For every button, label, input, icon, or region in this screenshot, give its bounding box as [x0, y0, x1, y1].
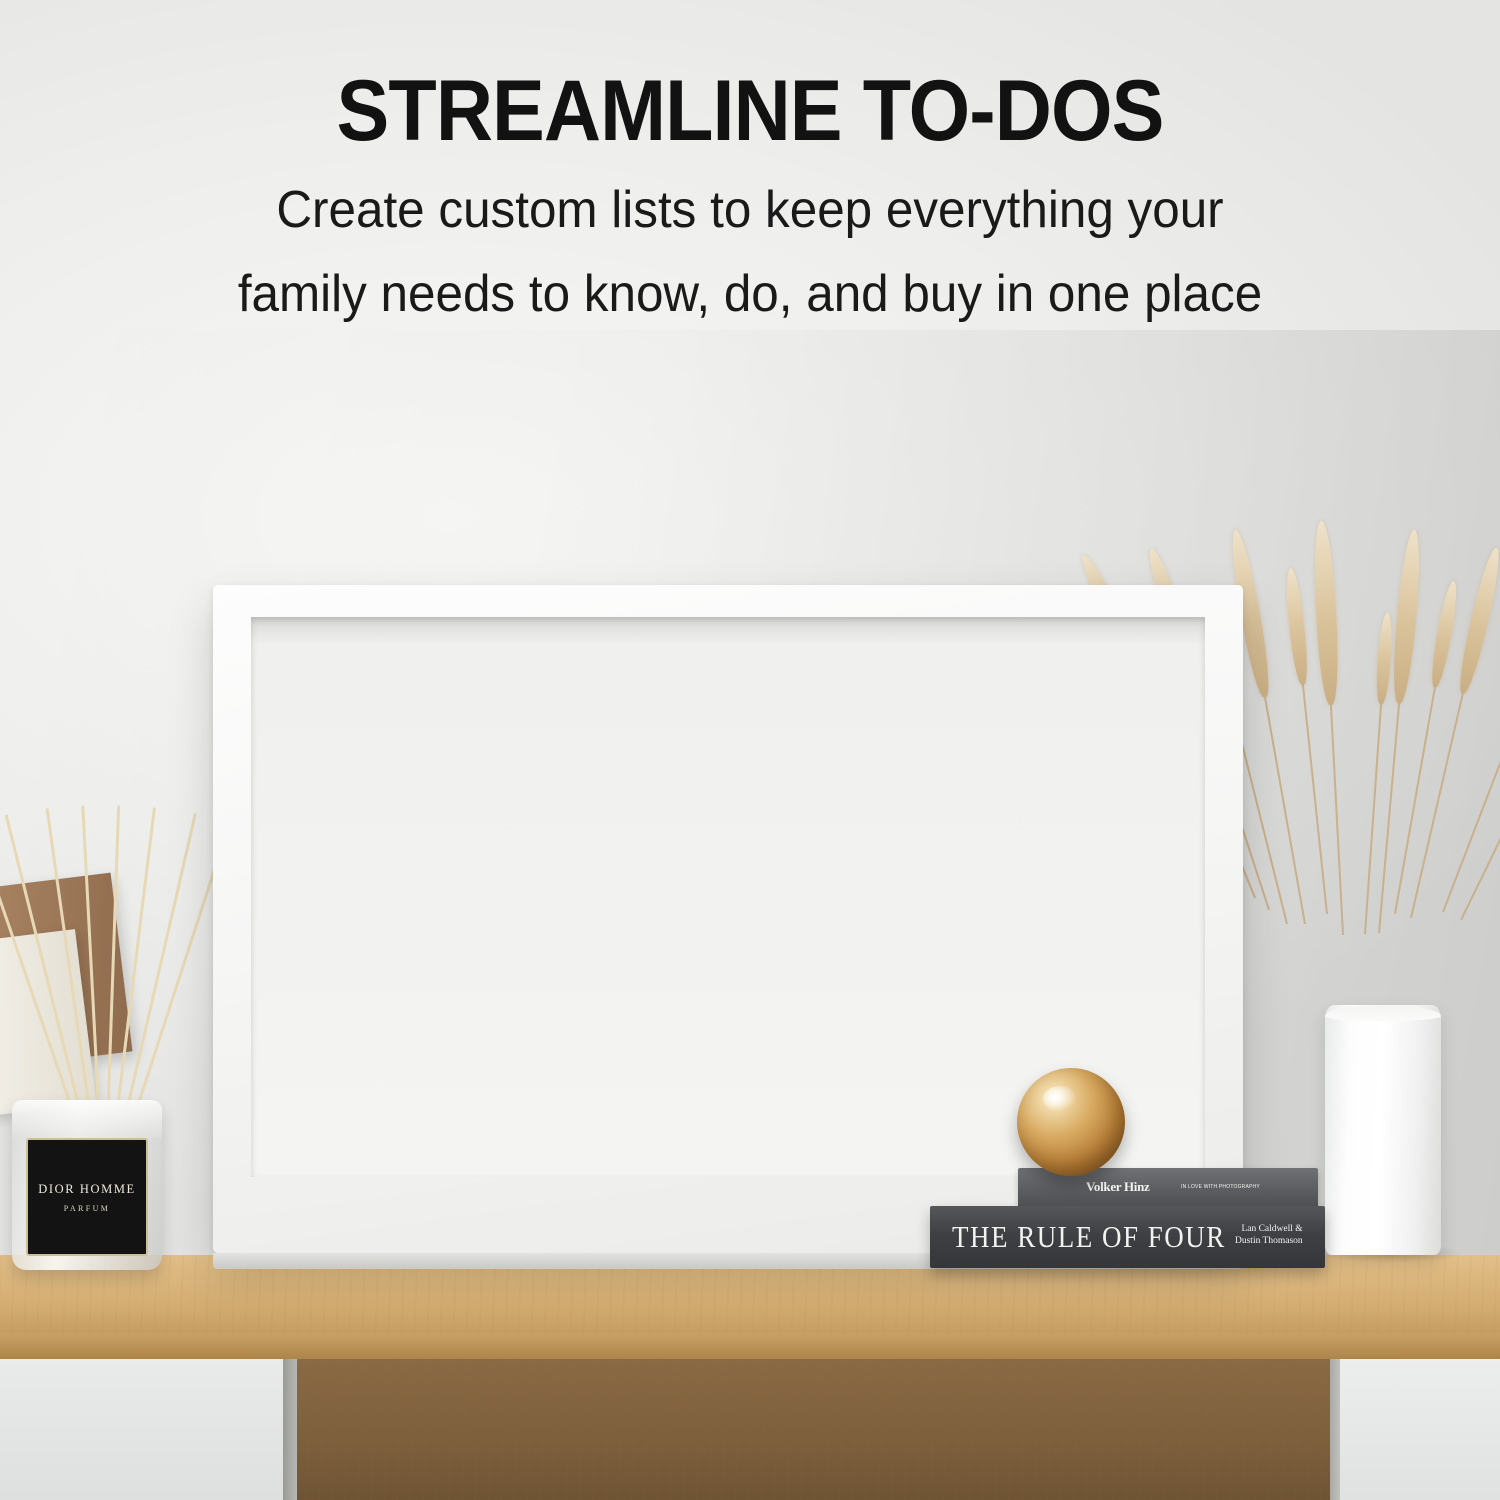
pampas-stalk — [1363, 613, 1389, 934]
cabinet-back-panel — [297, 1359, 1340, 1500]
cabinet-right-panel — [1340, 1359, 1500, 1500]
page-title: STREAMLINE TO-DOS — [60, 68, 1440, 154]
diffuser-label: DIOR HOMME PARFUM — [26, 1138, 148, 1256]
promo-subtitle-line-2: family needs to know, do, and buy in one… — [38, 266, 1463, 322]
white-vase — [1325, 1005, 1441, 1255]
book-rule-of-four-title: THE RULE OF FOUR — [952, 1220, 1226, 1255]
dior-homme-diffuser: DIOR HOMME PARFUM — [12, 1100, 162, 1270]
desk-edge — [0, 1333, 1500, 1359]
cabinet-left-panel — [0, 1359, 290, 1500]
diffuser-brand: DIOR HOMME — [38, 1182, 136, 1197]
diffuser-line: PARFUM — [64, 1204, 111, 1213]
book-rule-of-four-authors: Lan Caldwell &Dustin Thomason — [1235, 1223, 1303, 1247]
book-volker-hinz-subtitle: IN LOVE WITH PHOTOGRAPHY — [1181, 1184, 1260, 1190]
decorative-gold-sphere — [1017, 1068, 1125, 1176]
cabinet-gap — [283, 1359, 297, 1500]
pampas-stalk — [1377, 529, 1416, 933]
diffuser-reed — [106, 805, 120, 1125]
promo-subtitle-line-1: Create custom lists to keep everything y… — [38, 182, 1463, 238]
promo-header: STREAMLINE TO-DOS Create custom lists to… — [0, 0, 1500, 330]
book-volker-hinz-title: Volker Hinz — [1086, 1179, 1150, 1195]
reed-diffuser-sticks — [20, 795, 160, 1125]
book-rule-of-four: THE RULE OF FOUR Lan Caldwell &Dustin Th… — [930, 1206, 1325, 1268]
